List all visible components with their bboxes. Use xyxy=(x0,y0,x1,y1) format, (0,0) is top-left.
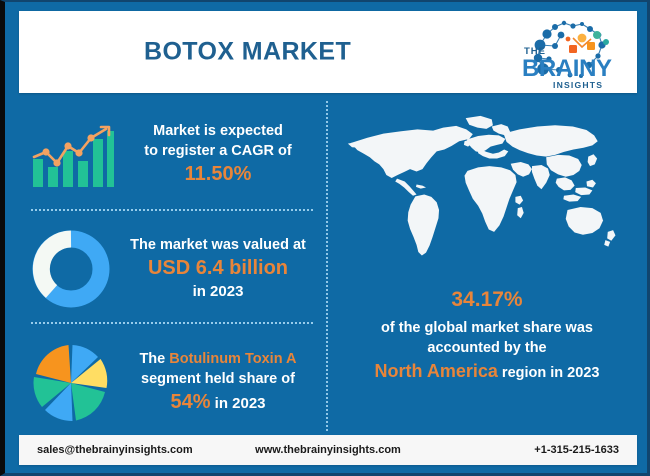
stat-cagr-line2: to register a CAGR of xyxy=(123,142,313,161)
donut-chart-icon xyxy=(30,228,112,310)
stat-segment-line1: The Botulinum Toxin A xyxy=(123,350,313,369)
left-column: Market is expected to register a CAGR of… xyxy=(19,97,319,432)
footer-email[interactable]: sales@thebrainyinsights.com xyxy=(37,444,193,456)
footer-phone[interactable]: +1-315-215-1633 xyxy=(534,444,619,456)
stat-segment-value: 54% xyxy=(170,391,210,413)
body-area: Market is expected to register a CAGR of… xyxy=(5,97,650,432)
stat-valuation-icon-wrap xyxy=(19,228,123,310)
stat-cagr-value: 11.50% xyxy=(123,161,313,188)
brand-logo[interactable]: THE BRAINY INSIGHTS xyxy=(469,15,619,91)
vertical-divider xyxy=(326,101,328,431)
region-line3: North America region in 2023 xyxy=(335,359,639,385)
stat-segment-line3: 54% in 2023 xyxy=(123,389,313,416)
brain-network-icon: THE BRAINY INSIGHTS xyxy=(469,15,619,91)
region-line2: accounted by the xyxy=(335,338,639,359)
right-column: 34.17% of the global market share was ac… xyxy=(335,97,641,432)
stat-cagr-icon-wrap xyxy=(19,119,123,191)
stat-segment-highlight: Botulinum Toxin A xyxy=(169,351,296,367)
stat-valuation-text: The market was valued at USD 6.4 billion… xyxy=(123,236,319,302)
stat-segment-icon-wrap xyxy=(19,341,123,425)
region-suffix: region in 2023 xyxy=(498,365,600,381)
footer-card: sales@thebrainyinsights.com www.thebrain… xyxy=(19,435,637,465)
stat-valuation-line1: The market was valued at xyxy=(123,236,313,255)
logo-main-word: BRAINY xyxy=(522,55,612,82)
bar-chart-growth-icon xyxy=(27,119,115,191)
stat-segment-suffix: in 2023 xyxy=(210,395,265,412)
region-stat-text: 34.17% of the global market share was ac… xyxy=(335,285,639,385)
stat-cagr-text: Market is expected to register a CAGR of… xyxy=(123,122,319,187)
stat-segment-line2: segment held share of xyxy=(123,370,313,389)
stat-segment-text: The Botulinum Toxin A segment held share… xyxy=(123,350,319,415)
stat-cagr-line1: Market is expected xyxy=(123,122,313,141)
region-name: North America xyxy=(375,361,498,381)
page-title: BOTOX MARKET xyxy=(144,38,351,67)
pie-chart-icon xyxy=(29,341,113,425)
footer-website[interactable]: www.thebrainyinsights.com xyxy=(255,444,401,456)
stat-valuation: The market was valued at USD 6.4 billion… xyxy=(19,219,319,319)
region-percent: 34.17% xyxy=(335,285,639,315)
header-card: BOTOX MARKET xyxy=(19,11,637,93)
logo-bottom-word: INSIGHTS xyxy=(553,80,603,90)
stat-valuation-value: USD 6.4 billion xyxy=(123,255,313,282)
region-line1: of the global market share was xyxy=(335,318,639,339)
horizontal-divider-2 xyxy=(31,322,313,324)
stat-valuation-line3: in 2023 xyxy=(123,282,313,302)
horizontal-divider-1 xyxy=(31,209,313,211)
stat-segment-prefix: The xyxy=(139,351,169,367)
stat-cagr: Market is expected to register a CAGR of… xyxy=(19,105,319,205)
infographic-root: BOTOX MARKET xyxy=(0,0,650,476)
stat-segment: The Botulinum Toxin A segment held share… xyxy=(19,333,319,433)
world-map-icon xyxy=(339,106,635,276)
world-map-wrap xyxy=(337,103,637,278)
